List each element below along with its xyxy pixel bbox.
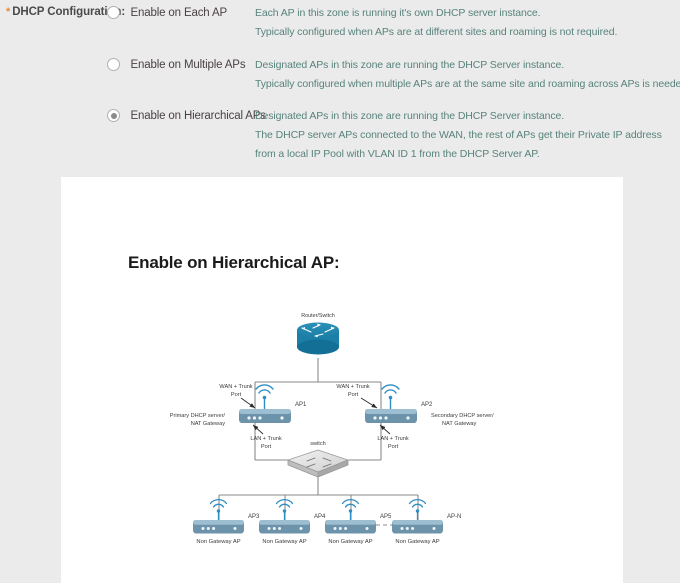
ap1-wan-arrow	[241, 398, 255, 408]
radio-label-enable-hierarchical-aps: Enable on Hierarchical APs	[130, 110, 265, 122]
diagram-panel: Enable on Hierarchical AP:	[61, 177, 623, 583]
radio-option-enable-multiple-aps[interactable]: Enable on Multiple APs	[107, 56, 245, 74]
radio-label-enable-each-ap: Enable on Each AP	[130, 7, 227, 19]
ap2-lan-label-line2: Port	[388, 444, 399, 450]
ap2-name-label: AP2	[421, 402, 433, 408]
router-switch-node: Router/Switch	[297, 313, 339, 355]
ap3-name-label: AP3	[248, 514, 260, 520]
radio-button-enable-multiple-aps[interactable]	[107, 58, 120, 71]
access-point-apn: AP-N Non Gateway AP	[392, 500, 461, 545]
ap2-role-line1: Secondary DHCP server/	[431, 413, 494, 419]
switch-icon	[288, 450, 348, 477]
ap2-lan-label-line1: LAN + Trunk	[377, 436, 408, 442]
switch-node: switch	[288, 441, 348, 477]
description-line: Designated APs in this zone are running …	[255, 107, 675, 126]
description-line: Typically configured when APs are at dif…	[255, 23, 617, 42]
wifi-icon	[256, 385, 273, 411]
access-point-ap5: AP5 Non Gateway AP	[325, 500, 392, 545]
ap1-role-line2: NAT Gateway	[191, 421, 226, 427]
ap2-role-line2: NAT Gateway	[442, 421, 477, 427]
radio-button-enable-each-ap[interactable]	[107, 6, 120, 19]
router-switch-label: Router/Switch	[301, 313, 335, 319]
wifi-icon	[382, 385, 399, 411]
ap1-name-label: AP1	[295, 402, 307, 408]
access-point-ap3: AP3 Non Gateway AP	[193, 500, 260, 545]
ap3-role-label: Non Gateway AP	[196, 539, 240, 545]
description-line: Designated APs in this zone are running …	[255, 56, 680, 75]
ap-body	[239, 409, 291, 423]
network-topology-diagram: Router/Switch	[61, 177, 623, 583]
description-line: Typically configured when multiple APs a…	[255, 75, 680, 94]
ap-body	[325, 520, 376, 534]
ap4-name-label: AP4	[314, 514, 326, 520]
dhcp-configuration-form: *DHCP Configuration: Enable on Each AP E…	[0, 0, 680, 177]
description-enable-multiple-aps: Designated APs in this zone are running …	[255, 56, 680, 94]
required-asterisk: *	[6, 6, 10, 18]
apn-role-label: Non Gateway AP	[395, 539, 439, 545]
radio-option-enable-hierarchical-aps[interactable]: Enable on Hierarchical APs	[107, 107, 266, 125]
switch-label: switch	[310, 441, 326, 447]
description-line: The DHCP server APs connected to the WAN…	[255, 126, 675, 164]
description-enable-each-ap: Each AP in this zone is running it's own…	[255, 4, 617, 42]
ap1-role-line1: Primary DHCP server/	[170, 413, 226, 419]
ap-body	[392, 520, 443, 534]
description-enable-hierarchical-aps: Designated APs in this zone are running …	[255, 107, 675, 164]
ap2-wan-label-line1: WAN + Trunk	[336, 384, 369, 390]
ap-body	[193, 520, 244, 534]
ap5-role-label: Non Gateway AP	[328, 539, 372, 545]
ap5-name-label: AP5	[380, 514, 392, 520]
access-point-ap1: AP1 Primary DHCP server/ NAT Gateway WAN…	[170, 384, 307, 450]
ap1-wan-label-line1: WAN + Trunk	[219, 384, 252, 390]
radio-button-enable-hierarchical-aps[interactable]	[107, 109, 120, 122]
ap-body	[259, 520, 310, 534]
description-line: Each AP in this zone is running it's own…	[255, 4, 617, 23]
ap-body	[365, 409, 417, 423]
radio-option-enable-each-ap[interactable]: Enable on Each AP	[107, 4, 227, 22]
ap1-lan-label-line2: Port	[261, 444, 272, 450]
access-point-ap4: AP4 Non Gateway AP	[259, 500, 326, 545]
router-icon	[297, 323, 339, 355]
ap1-lan-label-line1: LAN + Trunk	[250, 436, 281, 442]
ap4-role-label: Non Gateway AP	[262, 539, 306, 545]
apn-name-label: AP-N	[447, 514, 461, 520]
ap2-wan-label-line2: Port	[348, 392, 359, 398]
ap1-wan-label-line2: Port	[231, 392, 242, 398]
access-point-ap2: AP2 Secondary DHCP server/ NAT Gateway W…	[336, 384, 494, 450]
ap2-wan-arrow	[361, 398, 377, 408]
radio-label-enable-multiple-aps: Enable on Multiple APs	[130, 59, 245, 71]
